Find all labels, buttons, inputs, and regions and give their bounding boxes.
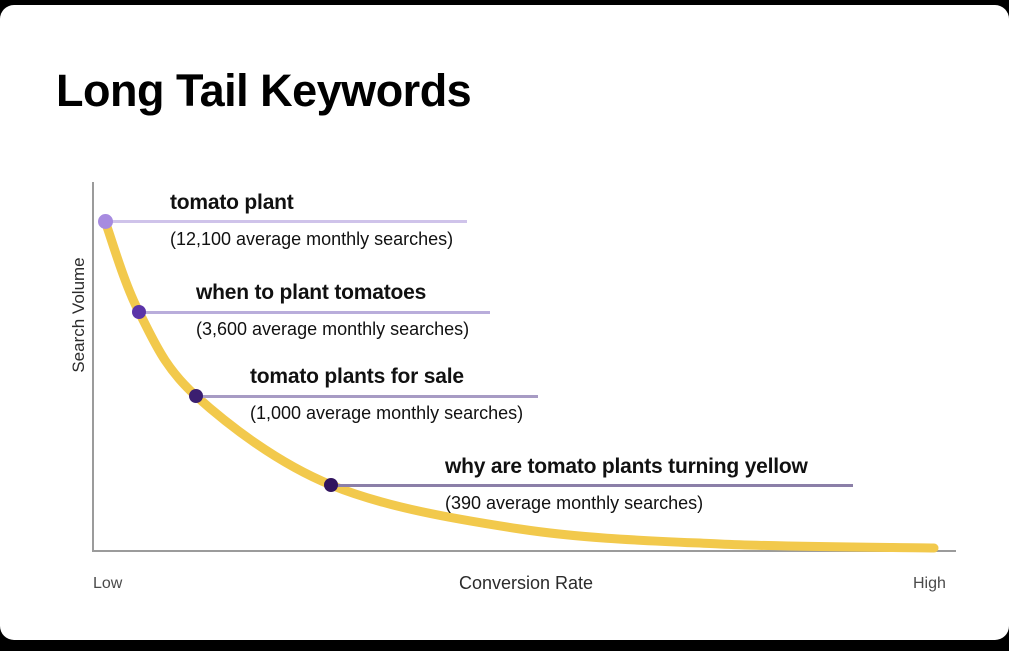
data-point-dot[interactable] bbox=[324, 478, 338, 492]
keyword-label: tomato plants for sale bbox=[250, 365, 464, 389]
y-axis-line bbox=[92, 182, 94, 551]
demand-curve bbox=[0, 5, 1009, 640]
keyword-label: tomato plant bbox=[170, 191, 294, 215]
x-axis-label: Conversion Rate bbox=[348, 573, 704, 594]
keyword-search-volume-label: (3,600 average monthly searches) bbox=[196, 319, 469, 340]
x-axis-line bbox=[92, 550, 956, 552]
data-point-dot[interactable] bbox=[98, 214, 113, 229]
data-point-dot[interactable] bbox=[132, 305, 146, 319]
leader-line bbox=[139, 311, 490, 314]
x-axis-tick-high: High bbox=[913, 575, 946, 593]
keyword-search-volume-label: (12,100 average monthly searches) bbox=[170, 229, 453, 250]
y-axis-label: Search Volume bbox=[69, 235, 89, 395]
long-tail-keywords-chart: Search Volume Conversion Rate Low High t… bbox=[0, 5, 1009, 640]
data-point-dot[interactable] bbox=[189, 389, 203, 403]
keyword-search-volume-label: (1,000 average monthly searches) bbox=[250, 403, 523, 424]
keyword-label: when to plant tomatoes bbox=[196, 281, 426, 305]
leader-line bbox=[196, 395, 538, 398]
x-axis-tick-low: Low bbox=[93, 575, 122, 593]
keyword-search-volume-label: (390 average monthly searches) bbox=[445, 493, 703, 514]
leader-line bbox=[331, 484, 853, 487]
keyword-label: why are tomato plants turning yellow bbox=[445, 455, 808, 479]
leader-line bbox=[105, 220, 467, 223]
chart-card: Long Tail Keywords Search Volume Convers… bbox=[0, 5, 1009, 640]
